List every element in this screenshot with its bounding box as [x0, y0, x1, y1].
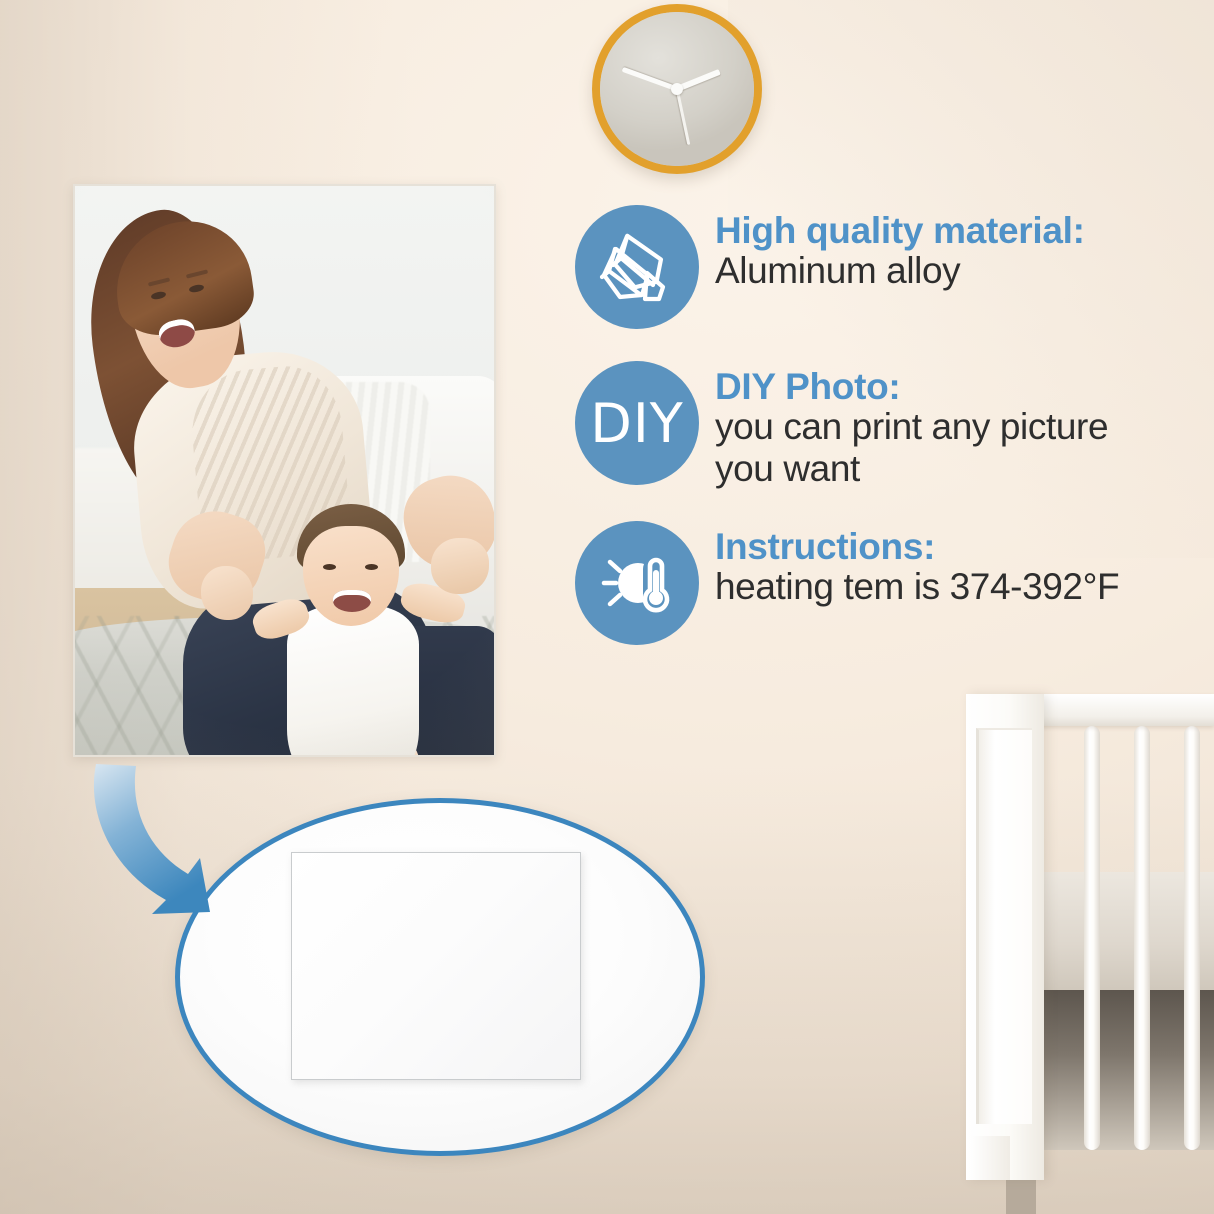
feature-heading: Instructions: [715, 527, 1119, 566]
feature-text-instructions: Instructions: heating tem is 374-392°F [699, 521, 1119, 608]
feature-heading: High quality material: [715, 211, 1085, 250]
feature-item-instructions: Instructions: heating tem is 374-392°F [575, 521, 1214, 645]
mother-and-baby-photo [73, 184, 496, 757]
feature-text-diy: DIY Photo: you can print any picture you… [699, 361, 1108, 489]
crib-leg [970, 1136, 1010, 1180]
diy-label: DIY [590, 392, 684, 455]
diy-text-icon: DIY [575, 361, 699, 485]
crib-floor-shadow [1006, 1174, 1036, 1214]
clock-center-pin [671, 83, 683, 95]
crib-slat [1084, 726, 1100, 1150]
feature-item-diy: DIY DIY Photo: you can print any picture… [575, 361, 1214, 489]
product-infographic: High quality material: Aluminum alloy DI… [0, 0, 1214, 1214]
feature-body-line-1: you can print any picture [715, 406, 1108, 447]
feature-text-material: High quality material: Aluminum alloy [699, 205, 1085, 292]
photo-vignette [75, 186, 494, 755]
feature-item-material: High quality material: Aluminum alloy [575, 205, 1214, 329]
feature-heading: DIY Photo: [715, 367, 1108, 406]
baby-crib [966, 694, 1214, 1214]
crib-slat [1134, 726, 1150, 1150]
feature-body: Aluminum alloy [715, 250, 1085, 291]
feature-list: High quality material: Aluminum alloy DI… [575, 205, 1214, 645]
sun-thermometer-icon [575, 521, 699, 645]
feature-body-line-2: you want [715, 448, 1108, 489]
crib-end-panel [966, 694, 1044, 1180]
feature-body: heating tem is 374-392°F [715, 566, 1119, 607]
crib-slat [1184, 726, 1200, 1150]
aluminum-bars-icon [575, 205, 699, 329]
crib-panel-inset [976, 728, 1032, 1124]
curved-arrow-icon [78, 762, 268, 922]
wall-clock [592, 4, 762, 174]
blank-aluminum-panel [291, 852, 581, 1080]
